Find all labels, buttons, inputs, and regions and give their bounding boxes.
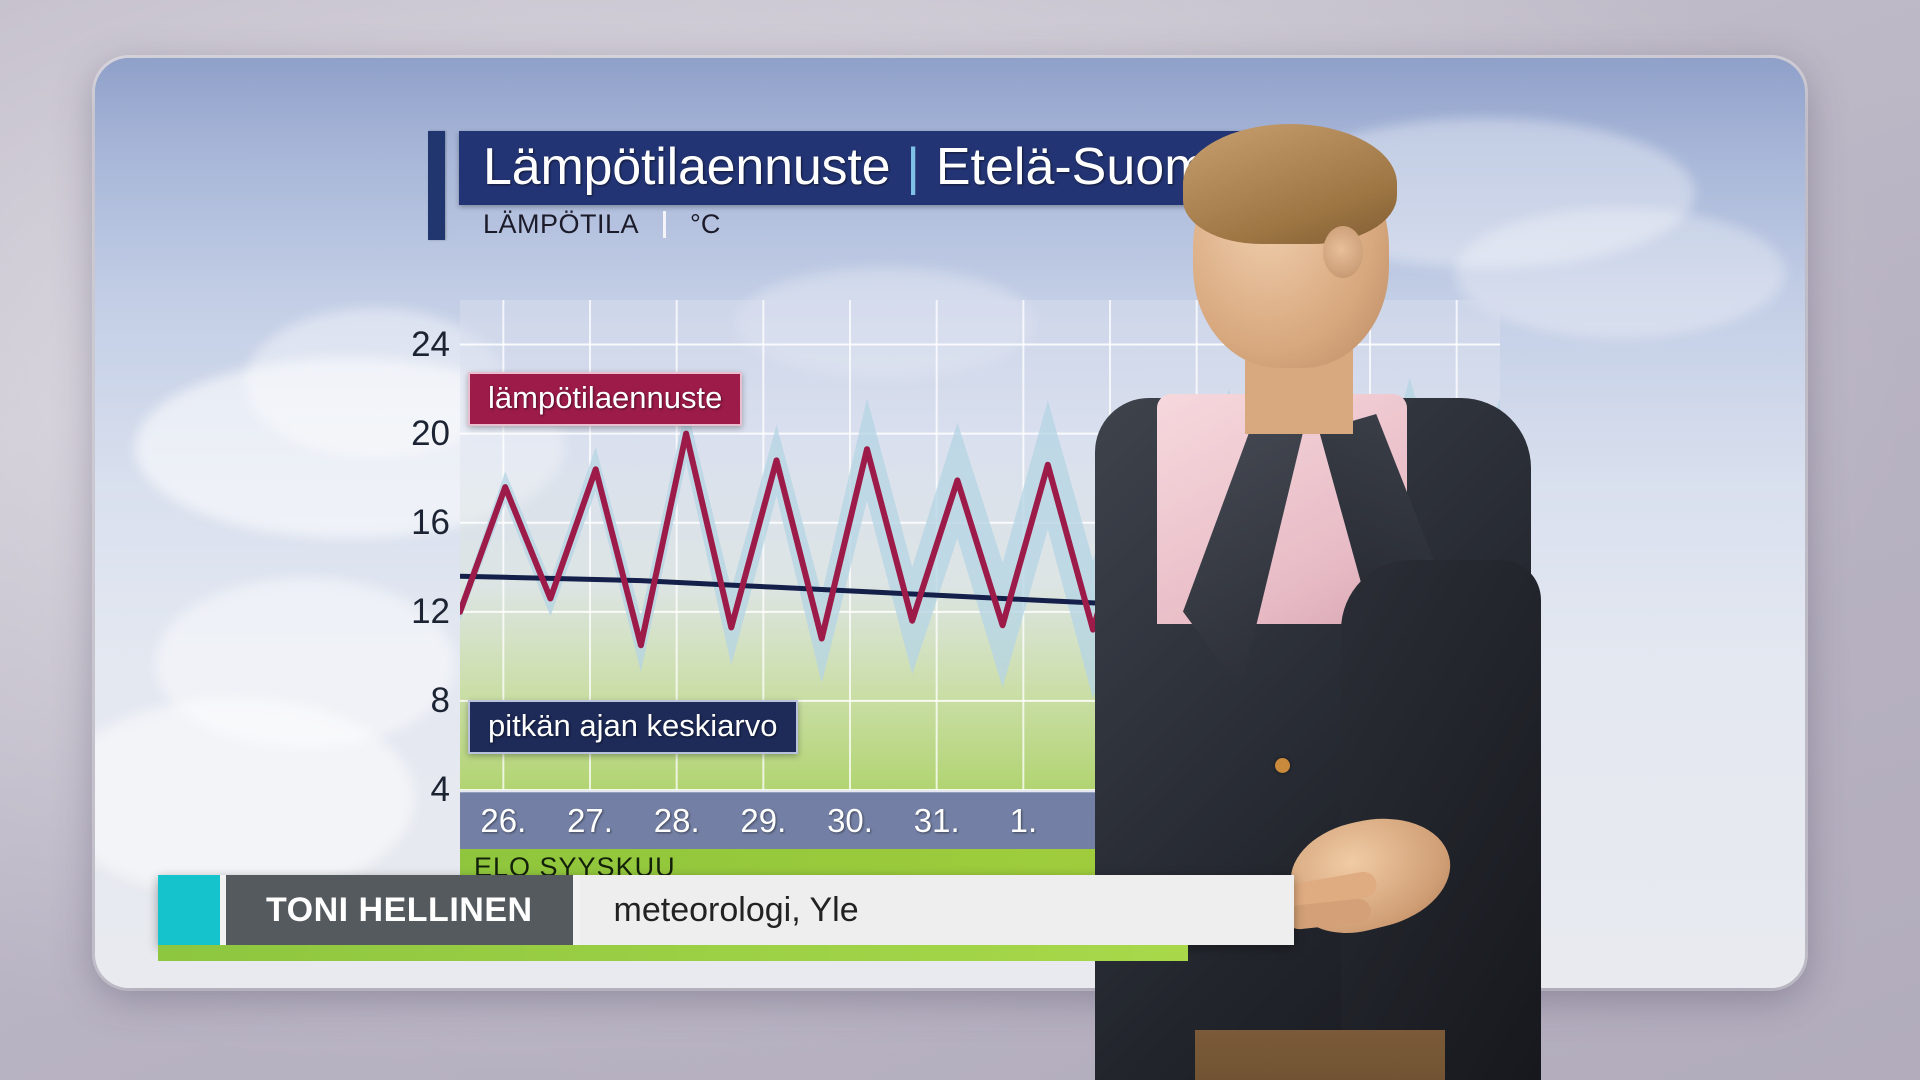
measure-label: LÄMPÖTILA	[483, 209, 639, 240]
x-axis-tick-label: 31.	[893, 802, 980, 840]
header-accent-tick	[428, 131, 445, 240]
lower-third-green-strip	[158, 945, 1188, 961]
x-axis-tick-label: 1.	[980, 802, 1067, 840]
y-axis-tick-label: 8	[300, 681, 450, 721]
lower-third-divider	[573, 875, 580, 945]
x-axis-tick-label: 28.	[633, 802, 720, 840]
y-axis-tick-label: 16	[300, 503, 450, 543]
header-separator: |	[906, 137, 920, 197]
presenter-role-block: meteorologi, Yle	[580, 875, 1294, 945]
presenter-role: meteorologi, Yle	[614, 891, 859, 930]
y-axis-tick-label: 12	[300, 592, 450, 632]
presenter-name-block: TONI HELLINEN	[226, 875, 573, 945]
y-axis-tick-label: 20	[300, 414, 450, 454]
y-axis-tick-label: 24	[300, 325, 450, 365]
x-axis-tick-label: 27.	[547, 802, 634, 840]
page-title: Lämpötilaennuste	[483, 140, 890, 195]
presenter-name: TONI HELLINEN	[266, 891, 533, 930]
x-axis-tick-label: 26.	[460, 802, 547, 840]
presenter-hair	[1183, 124, 1397, 244]
legend-forecast-label: lämpötilaennuste	[488, 380, 722, 416]
legend-forecast-badge: lämpötilaennuste	[468, 372, 742, 426]
presenter-jacket-button	[1275, 758, 1290, 773]
x-axis-tick-label: 29.	[720, 802, 807, 840]
presenter-trousers	[1195, 1030, 1445, 1080]
subtitle-divider	[663, 211, 666, 238]
presenter-ear	[1323, 226, 1363, 278]
lower-third-banner: TONI HELLINEN meteorologi, Yle	[158, 875, 1294, 945]
lower-third-accent	[158, 875, 220, 945]
legend-average-badge: pitkän ajan keskiarvo	[468, 700, 798, 754]
legend-average-label: pitkän ajan keskiarvo	[488, 708, 778, 744]
broadcast-frame: Lämpötilaennuste | Etelä-Suomi LÄMPÖTILA…	[0, 0, 1920, 1080]
y-axis-tick-label: 4	[300, 770, 450, 810]
unit-label: °C	[690, 209, 720, 240]
y-axis-labels: 2420161284	[300, 300, 450, 790]
x-axis-tick-label: 30.	[807, 802, 894, 840]
